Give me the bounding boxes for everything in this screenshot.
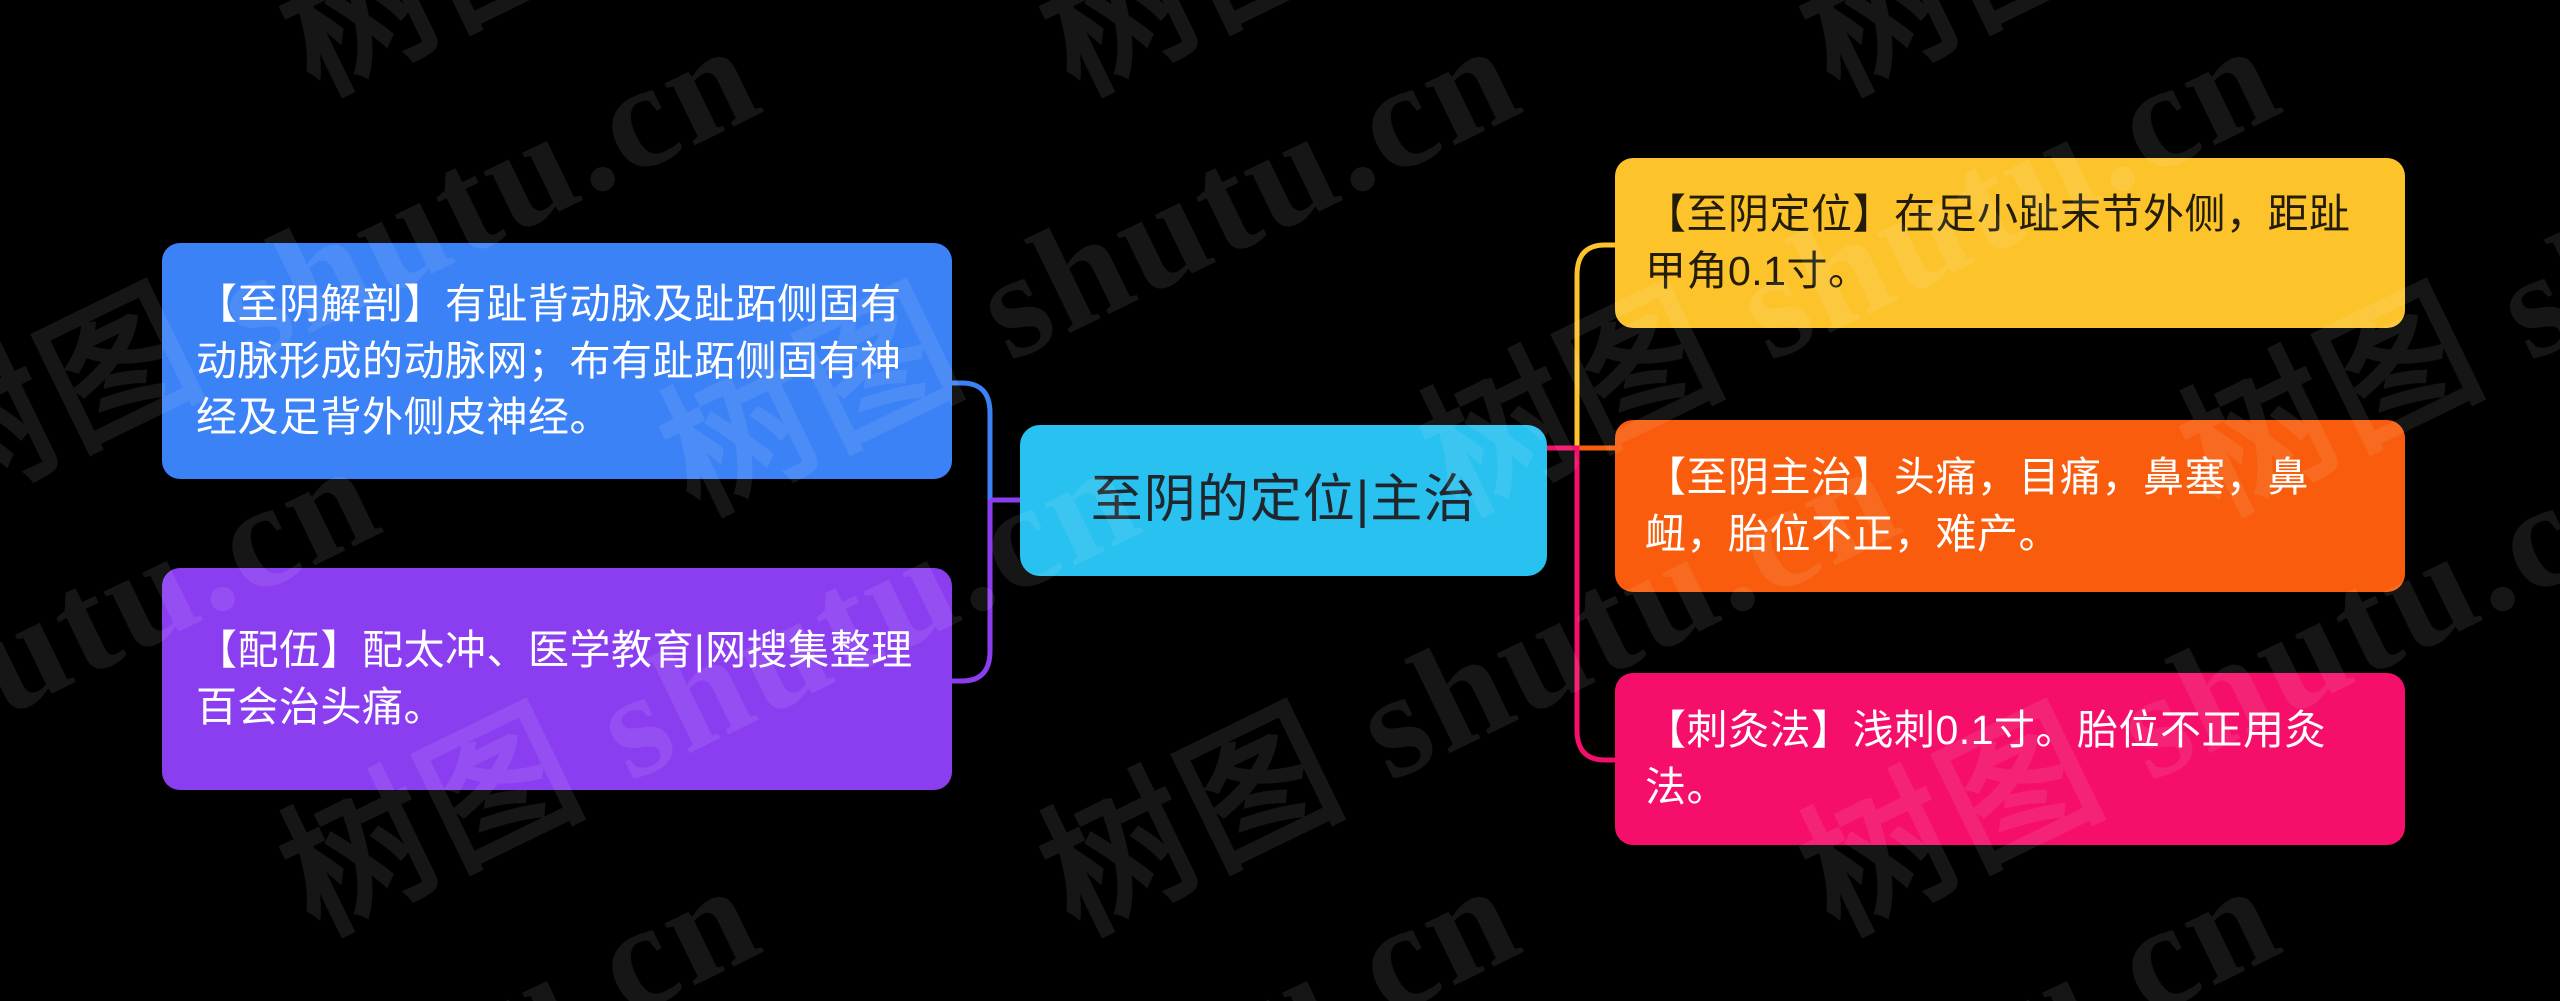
mindmap-canvas: 【至阴解剖】有趾背动脉及趾跖侧固有动脉形成的动脉网；布有趾跖侧固有神经及足背外侧… xyxy=(0,0,2560,1001)
node-combination-label: 【配伍】配太冲、医学教育|网搜集整理百会治头痛。 xyxy=(196,622,922,735)
node-indications-label: 【至阴主治】头痛，目痛，鼻塞，鼻衄，胎位不正，难产。 xyxy=(1645,449,2377,562)
node-location[interactable]: 【至阴定位】在足小趾末节外侧，距趾甲角0.1寸。 xyxy=(1615,158,2405,328)
node-indications[interactable]: 【至阴主治】头痛，目痛，鼻塞，鼻衄，胎位不正，难产。 xyxy=(1615,420,2405,592)
node-combination[interactable]: 【配伍】配太冲、医学教育|网搜集整理百会治头痛。 xyxy=(162,568,952,790)
connector-anatomy xyxy=(952,383,990,500)
node-anatomy[interactable]: 【至阴解剖】有趾背动脉及趾跖侧固有动脉形成的动脉网；布有趾跖侧固有神经及足背外侧… xyxy=(162,243,952,479)
node-root-label: 至阴的定位|主治 xyxy=(1046,469,1521,531)
node-needling-label: 【刺灸法】浅刺0.1寸。胎位不正用灸法。 xyxy=(1645,702,2377,815)
node-needling[interactable]: 【刺灸法】浅刺0.1寸。胎位不正用灸法。 xyxy=(1615,673,2405,845)
connector-location xyxy=(1577,245,1615,448)
node-root[interactable]: 至阴的定位|主治 xyxy=(1020,425,1547,576)
node-location-label: 【至阴定位】在足小趾末节外侧，距趾甲角0.1寸。 xyxy=(1645,186,2377,299)
connector-needling xyxy=(1547,448,1615,760)
connector-combination xyxy=(952,500,990,681)
node-anatomy-label: 【至阴解剖】有趾背动脉及趾跖侧固有动脉形成的动脉网；布有趾跖侧固有神经及足背外侧… xyxy=(196,276,922,446)
